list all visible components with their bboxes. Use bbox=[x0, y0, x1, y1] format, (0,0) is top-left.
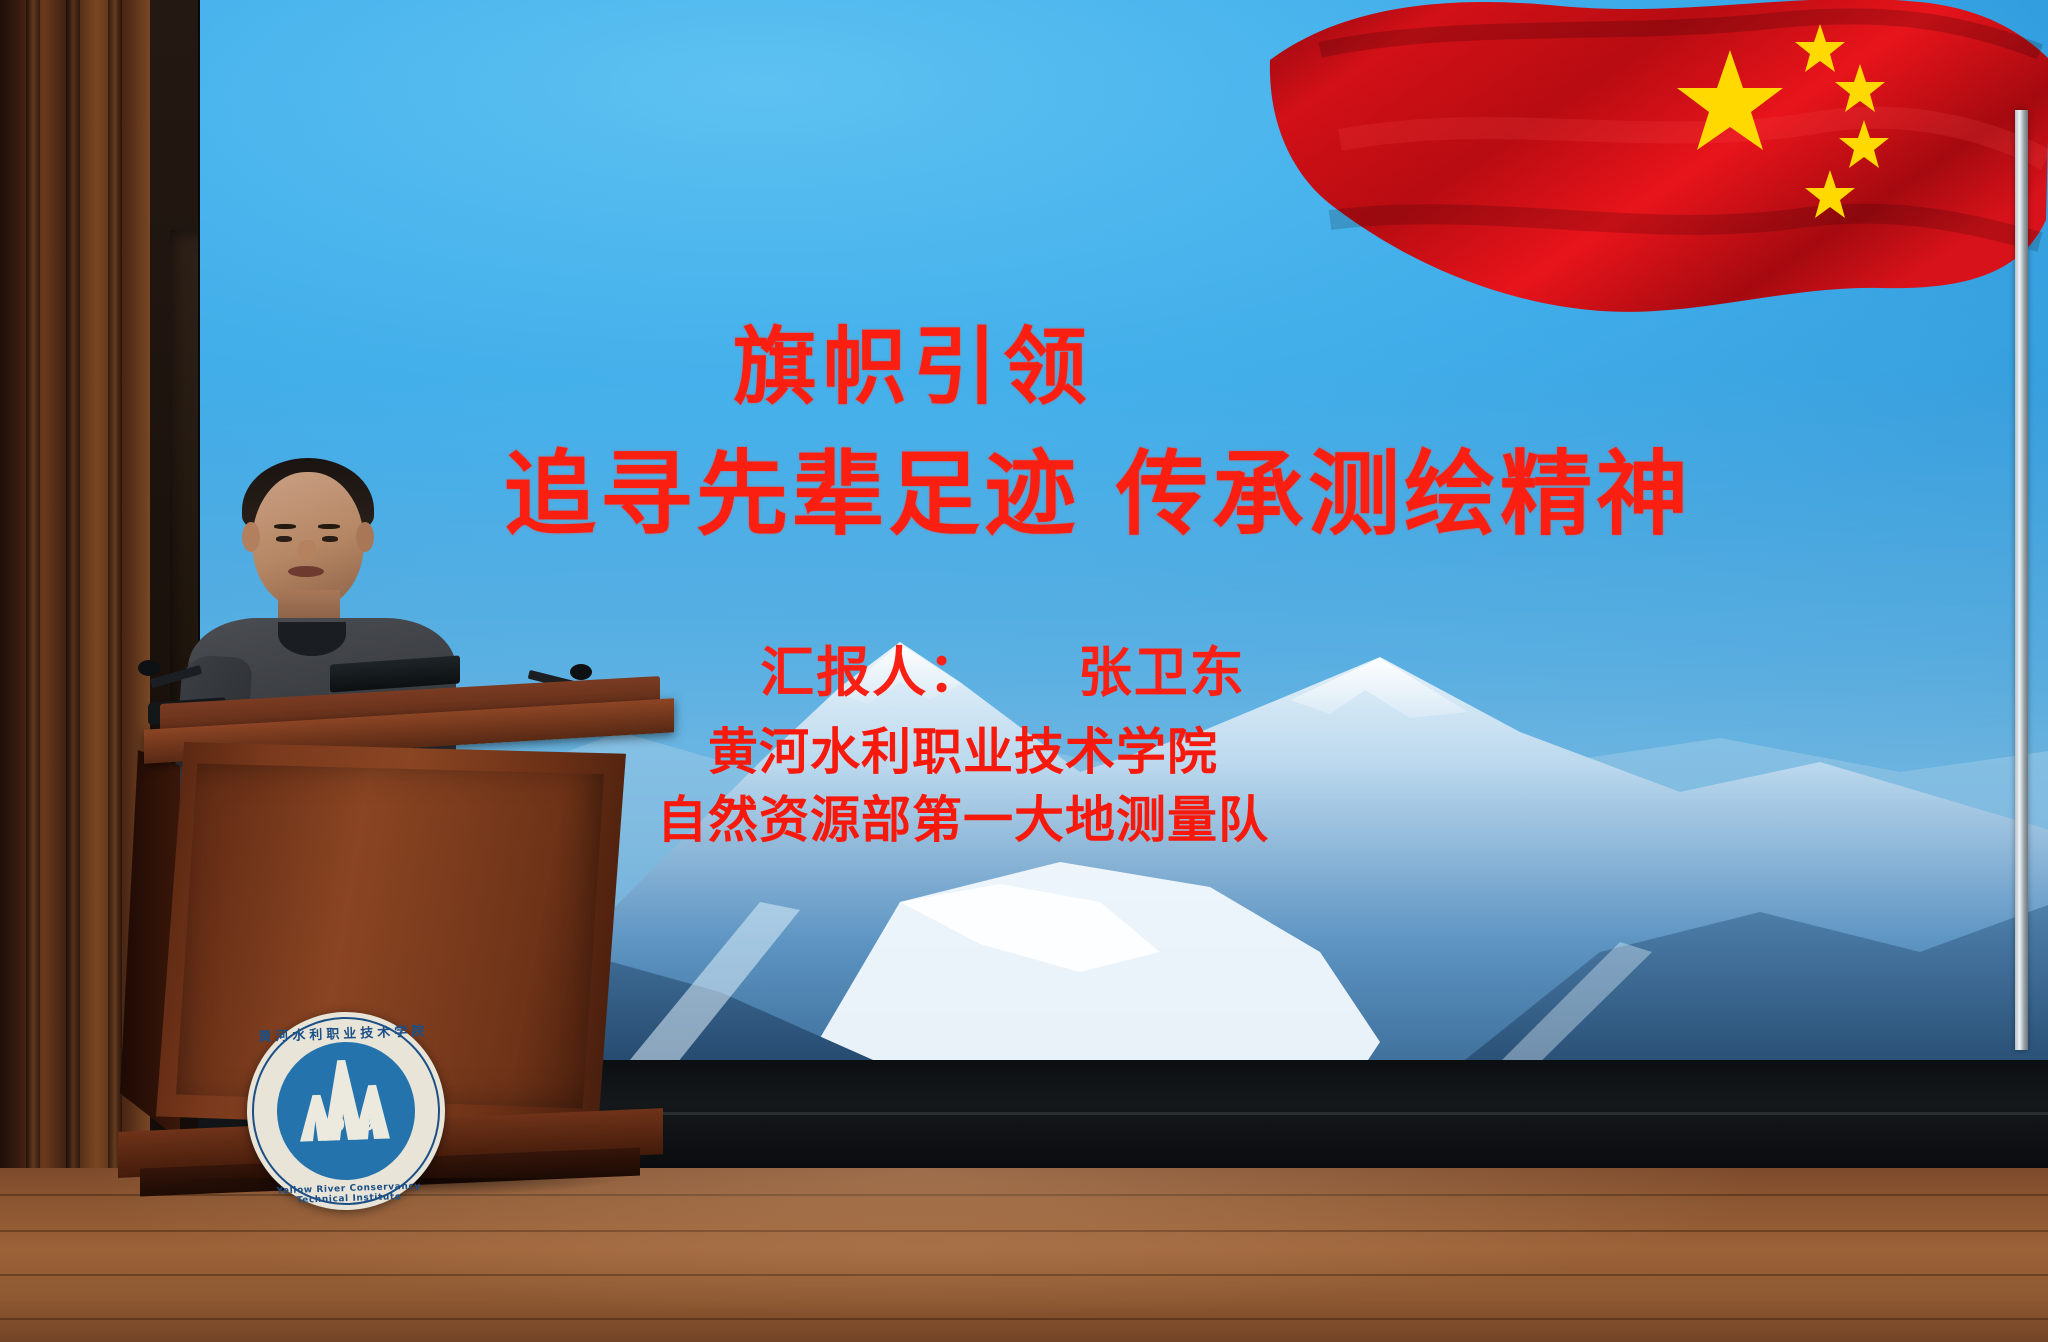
ear-right bbox=[356, 522, 374, 552]
slide-title-line1: 旗帜引领 bbox=[200, 300, 2048, 421]
auditorium-scene: 旗帜引领 追寻先辈足迹 传承测绘精神 汇报人： 张卫东 黄河水利职业技术学院 自… bbox=[0, 0, 2048, 1342]
microphone-right-head bbox=[570, 664, 592, 680]
microphone-left-head bbox=[138, 660, 160, 676]
presenter-name: 张卫东 bbox=[1078, 641, 1246, 704]
presenter-label: 汇报人： bbox=[760, 641, 984, 704]
emblem-blue-disc: 1929 bbox=[275, 1040, 418, 1183]
mouth bbox=[288, 566, 324, 577]
ear-left bbox=[242, 522, 260, 552]
emblem-year: 1929 bbox=[277, 1110, 416, 1139]
slide-title-line2: 追寻先辈足迹 传承测绘精神 bbox=[200, 420, 2048, 553]
nose bbox=[298, 540, 316, 562]
